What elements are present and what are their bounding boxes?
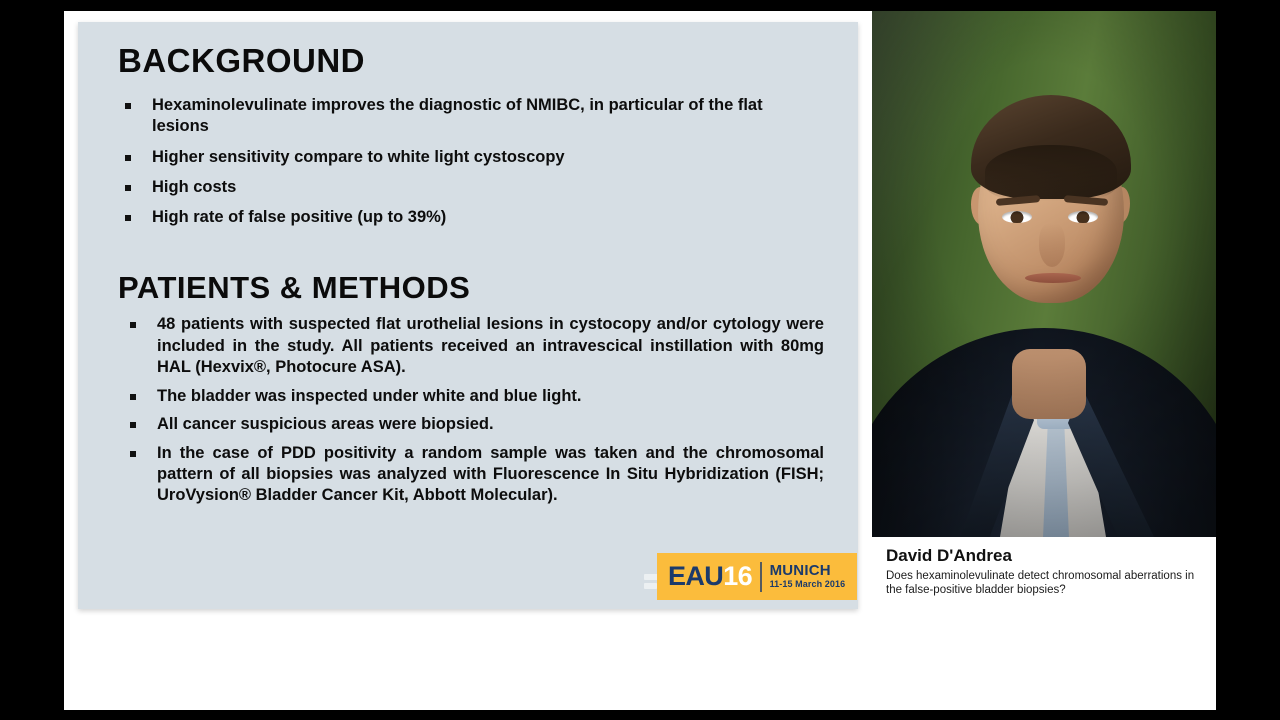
bullet-text: Higher sensitivity compare to white ligh… (152, 148, 565, 166)
logo-city-text: MUNICH (770, 563, 846, 579)
methods-bullet-list: 48 patients with suspected flat urotheli… (118, 314, 824, 507)
bullet-text: The bladder was inspected under white an… (157, 387, 581, 405)
list-item: High costs (118, 177, 824, 198)
slide-page: BACKGROUND Hexaminolevulinate improves t… (64, 11, 1216, 710)
logo-brand-text: EAU (668, 563, 723, 590)
bullet-text: Hexaminolevulinate improves the diagnost… (152, 96, 763, 135)
video-viewer: BACKGROUND Hexaminolevulinate improves t… (0, 0, 1280, 720)
bullet-square-icon (125, 103, 131, 109)
list-item: All cancer suspicious areas were biopsie… (118, 414, 824, 435)
logo-dates-text: 11-15 March 2016 (770, 580, 846, 590)
bullet-text: 48 patients with suspected flat urotheli… (157, 315, 824, 376)
methods-heading: PATIENTS & METHODS (118, 272, 824, 305)
logo-year-text: 16 (723, 563, 752, 590)
slide-content: BACKGROUND Hexaminolevulinate improves t… (78, 22, 858, 609)
bullet-square-icon (130, 394, 136, 400)
speaker-info-panel: David D'Andrea Does hexaminolevulinate d… (872, 537, 1216, 623)
background-bullet-list: Hexaminolevulinate improves the diagnost… (118, 95, 824, 229)
presentation-slide: BACKGROUND Hexaminolevulinate improves t… (78, 22, 858, 609)
list-item: The bladder was inspected under white an… (118, 386, 824, 407)
bullet-text: High costs (152, 178, 236, 196)
list-item: 48 patients with suspected flat urotheli… (118, 314, 824, 378)
background-heading: BACKGROUND (118, 44, 824, 79)
presentation-title: Does hexaminolevulinate detect chromosom… (886, 569, 1204, 598)
logo-city-block: MUNICH 11-15 March 2016 (770, 563, 846, 590)
logo-divider (760, 562, 762, 592)
photo-vignette (872, 11, 1216, 537)
list-item: Hexaminolevulinate improves the diagnost… (118, 95, 824, 138)
bullet-text: In the case of PDD positivity a random s… (157, 444, 824, 505)
bullet-square-icon (125, 155, 131, 161)
speaker-name: David D'Andrea (886, 546, 1204, 566)
list-item: In the case of PDD positivity a random s… (118, 443, 824, 507)
bullet-square-icon (130, 451, 136, 457)
bullet-square-icon (125, 185, 131, 191)
speaker-video-frame (872, 11, 1216, 537)
bullet-square-icon (130, 422, 136, 428)
eau16-congress-logo: EAU 16 MUNICH 11-15 March 2016 (657, 553, 857, 600)
bullet-text: High rate of false positive (up to 39%) (152, 208, 446, 226)
bullet-square-icon (125, 215, 131, 221)
bullet-text: All cancer suspicious areas were biopsie… (157, 415, 494, 433)
list-item: Higher sensitivity compare to white ligh… (118, 147, 824, 168)
list-item: High rate of false positive (up to 39%) (118, 207, 824, 228)
bullet-square-icon (130, 322, 136, 328)
